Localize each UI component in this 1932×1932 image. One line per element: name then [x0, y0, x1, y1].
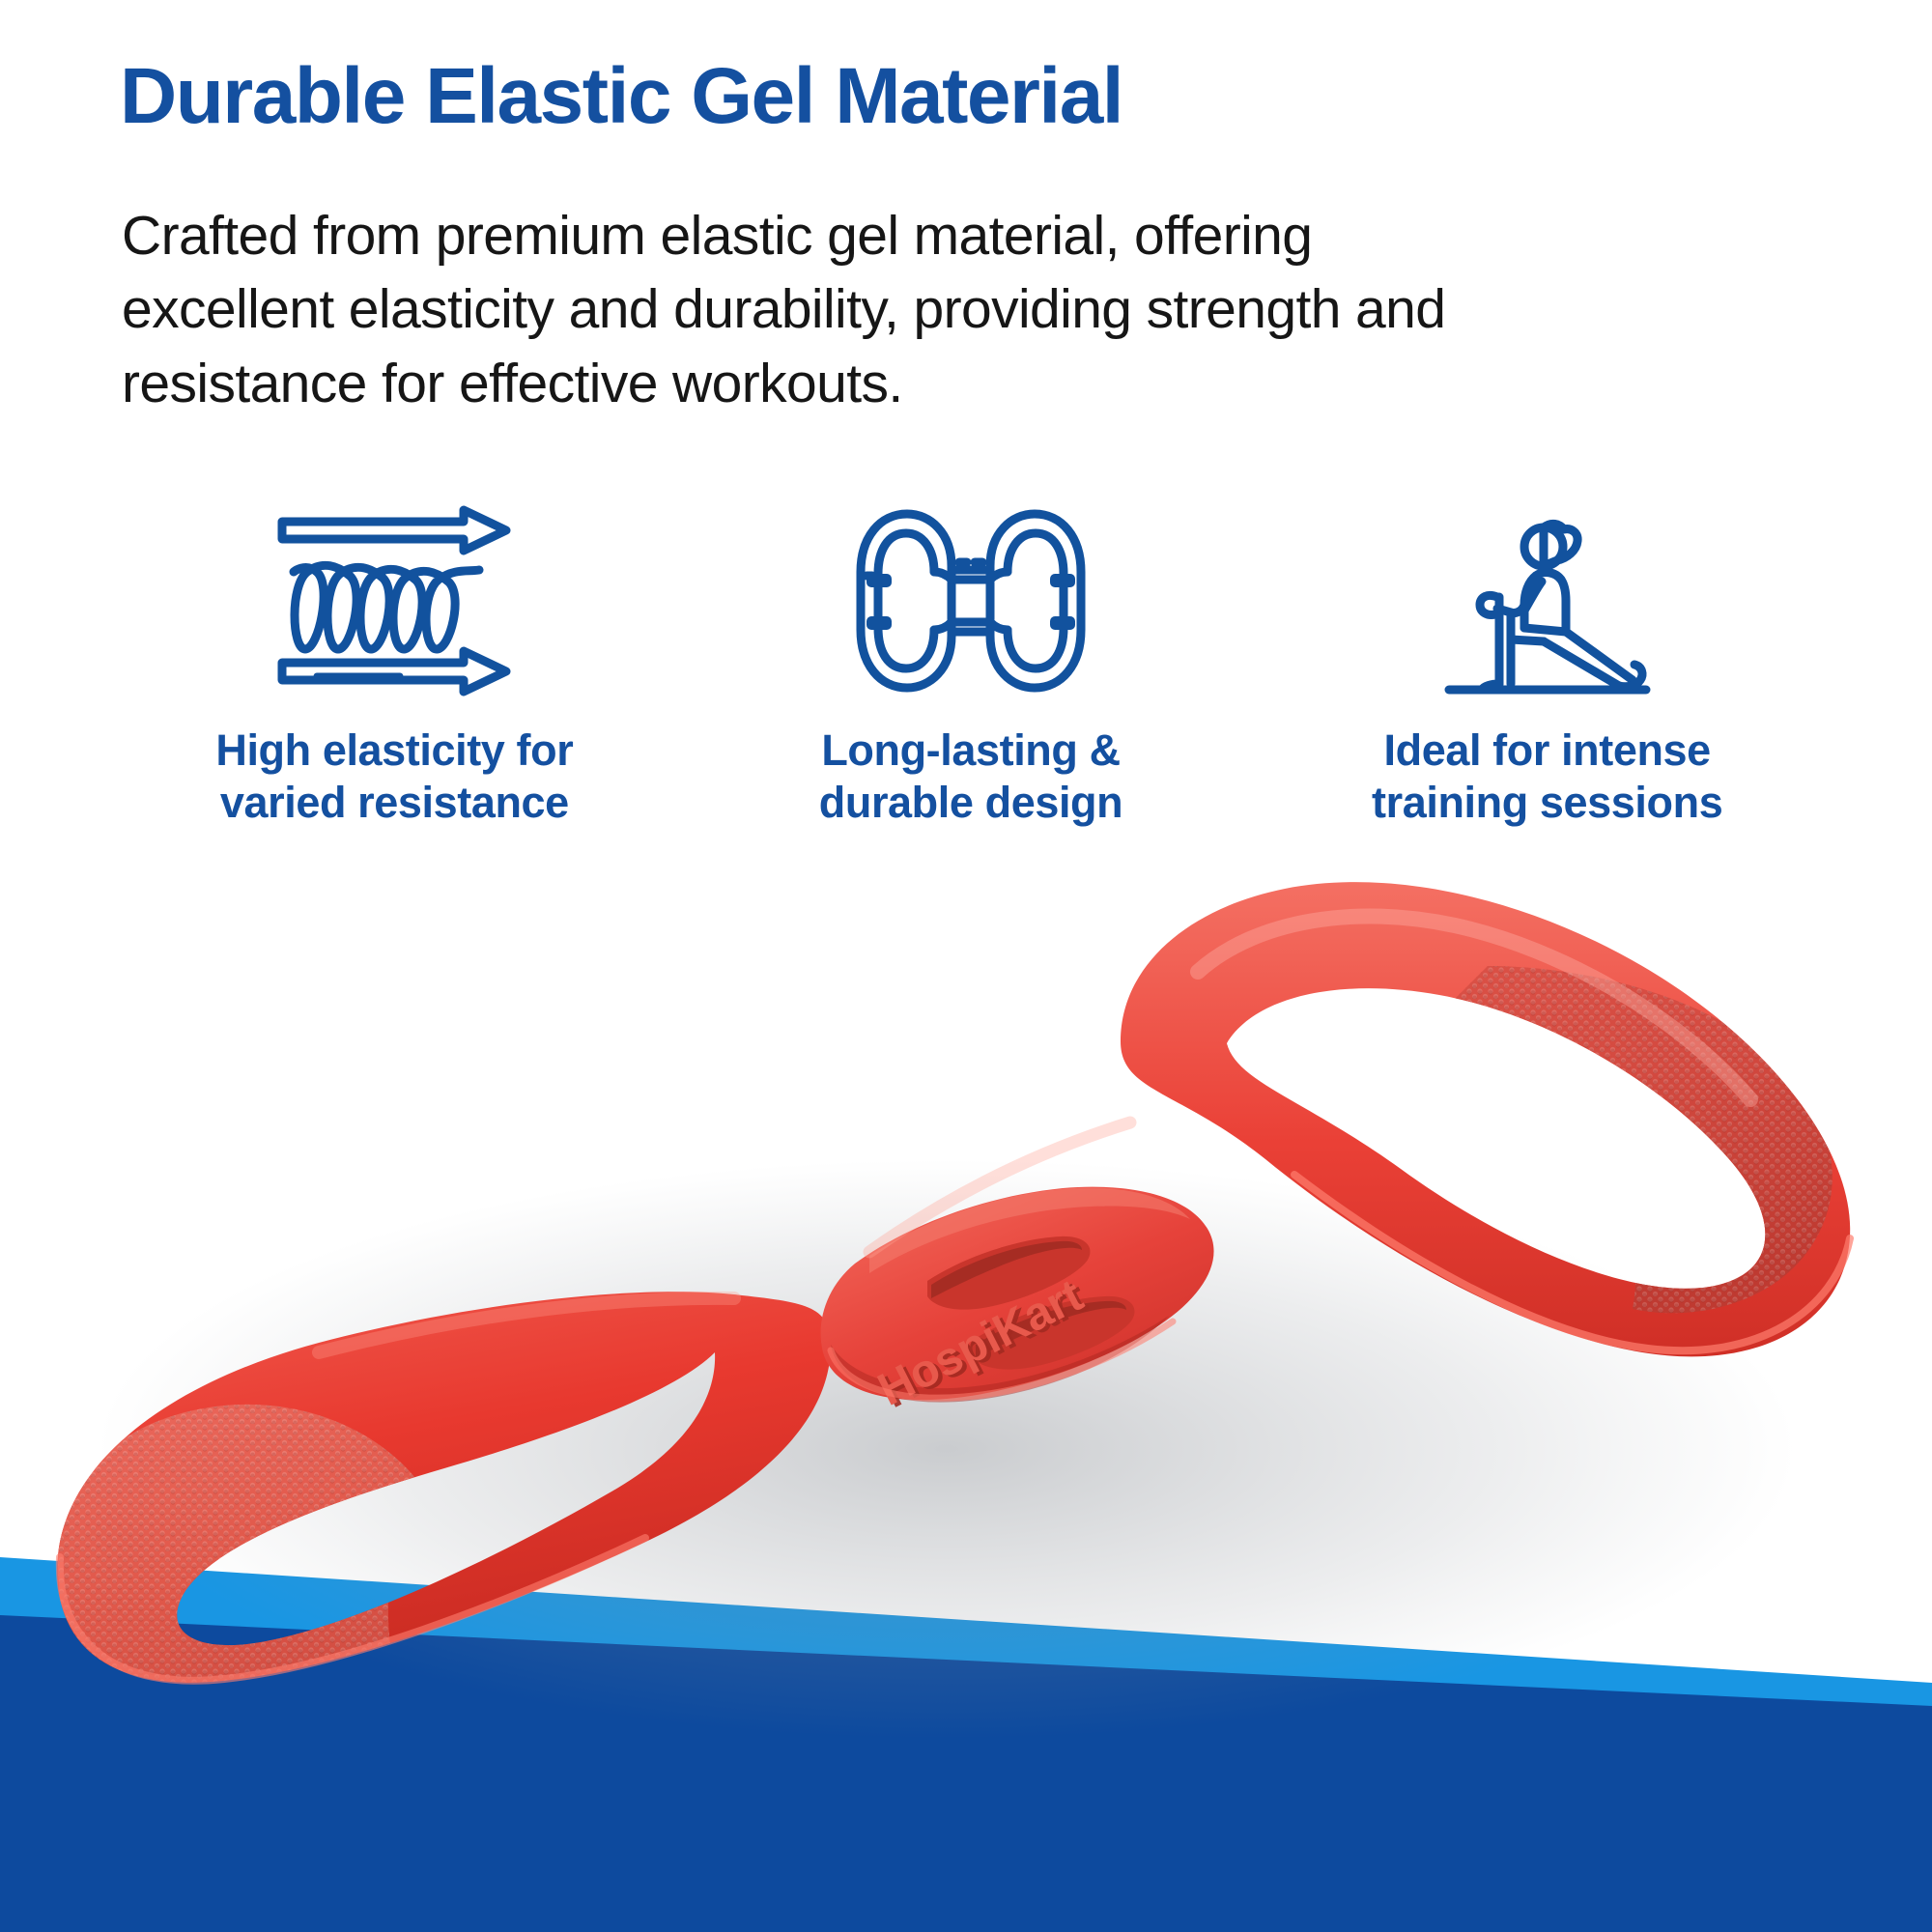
- grip-texture-left: [57, 1292, 831, 1682]
- feature-icon-container: [1428, 498, 1667, 703]
- feature-item-training: Ideal for intense training sessions: [1259, 498, 1835, 829]
- product-feature-card: Durable Elastic Gel Material Crafted fro…: [0, 0, 1932, 1932]
- feature-caption-line-2: varied resistance: [215, 777, 573, 829]
- feature-list: High elasticity for varied resistance: [106, 498, 1835, 885]
- band-right-loop: [1121, 882, 1850, 1356]
- spring-stretch-icon: [274, 504, 514, 697]
- hub-bevel-bottom: [831, 1316, 1169, 1403]
- feature-caption-line-2: training sessions: [1372, 777, 1722, 829]
- hub-bevel-top: [869, 1188, 1190, 1273]
- band-seam-right: [1294, 1175, 1850, 1350]
- hub-slot-lower-highlight: [976, 1301, 1126, 1358]
- feature-icon-container: [274, 498, 514, 703]
- description-paragraph: Crafted from premium elastic gel materia…: [122, 199, 1745, 420]
- feature-caption-line-1: Long-lasting &: [819, 724, 1122, 777]
- page-title: Durable Elastic Gel Material: [120, 56, 1665, 137]
- band-highlight-upper-arm: [869, 1122, 1130, 1252]
- feature-caption-line-1: Ideal for intense: [1372, 724, 1722, 777]
- brand-emboss-text: HospiKart: [870, 1270, 1091, 1416]
- brand-emboss: HospiKart HospiKart: [870, 1268, 1095, 1419]
- feature-caption: Long-lasting & durable design: [819, 724, 1122, 829]
- band-seam-hub-lower: [831, 1321, 1173, 1398]
- band-left-loop: [57, 1292, 831, 1682]
- description-line-1: Crafted from premium elastic gel materia…: [122, 199, 1745, 272]
- band-highlight-top-right: [1198, 916, 1750, 1099]
- feature-caption: High elasticity for varied resistance: [215, 724, 573, 829]
- hub-slot-upper-highlight: [931, 1241, 1082, 1298]
- feature-item-durability: Long-lasting & durable design: [683, 498, 1260, 829]
- feature-caption-line-1: High elasticity for: [215, 724, 573, 777]
- feature-icon-container: [851, 498, 1091, 703]
- band-body: HospiKart HospiKart: [57, 882, 1850, 1683]
- feature-caption-line-2: durable design: [819, 777, 1122, 829]
- band-highlight-lower-arm: [319, 1298, 734, 1352]
- hub-slot-lower: [972, 1296, 1134, 1370]
- navy-banner: [0, 1615, 1932, 1932]
- person-training-icon: [1428, 504, 1667, 697]
- band-seam-left: [60, 1538, 645, 1681]
- feature-caption: Ideal for intense training sessions: [1372, 724, 1722, 829]
- figure-eight-band-icon: [851, 504, 1091, 697]
- description-line-2: excellent elasticity and durability, pro…: [122, 272, 1745, 346]
- brand-emboss-shadow: HospiKart: [874, 1272, 1094, 1418]
- accent-stripe: [0, 1557, 1932, 1739]
- hub-slot-upper: [927, 1236, 1090, 1310]
- grip-texture-right: [1121, 882, 1850, 1356]
- feature-item-elasticity: High elasticity for varied resistance: [106, 498, 683, 829]
- band-center-hub: [821, 1187, 1214, 1400]
- description-line-3: resistance for effective workouts.: [122, 347, 1745, 420]
- product-shadow: [97, 1159, 1797, 1739]
